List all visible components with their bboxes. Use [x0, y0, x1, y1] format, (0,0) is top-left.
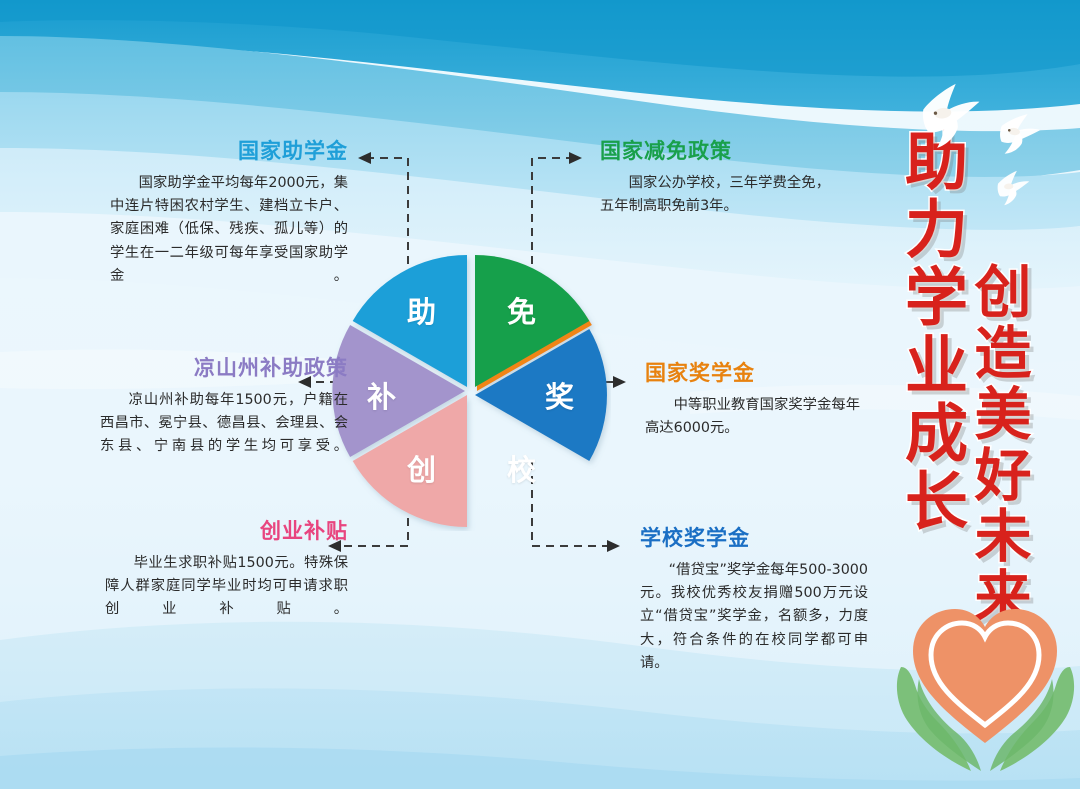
section-title: 学校奖学金	[640, 527, 868, 550]
poster-canvas: 助 免 奖 校 创 补 国家助学金 国家助学金平均每年2000元，集中连片特困农…	[0, 0, 1080, 789]
pie-svg	[331, 251, 611, 531]
section-body: 毕业生求职补贴1500元。特殊保障人群家庭同学毕业时均可申请求职创业补贴。	[105, 552, 348, 621]
policy-pie-chart: 助 免 奖 校 创 补	[331, 251, 611, 531]
section-title: 凉山州补助政策	[100, 357, 348, 380]
section-title: 创业补贴	[105, 520, 348, 543]
section-title: 国家减免政策	[600, 140, 830, 163]
dove-icon	[919, 81, 985, 149]
section-startup-subsidy[interactable]: 创业补贴 毕业生求职补贴1500元。特殊保障人群家庭同学毕业时均可申请求职创业补…	[105, 520, 348, 622]
dove-icon	[998, 111, 1042, 157]
section-body: 中等职业教育国家奖学金每年高达6000元。	[645, 394, 860, 440]
section-national-grant[interactable]: 国家助学金 国家助学金平均每年2000元，集中连片特困农村学生、建档立卡户、家庭…	[110, 140, 348, 288]
section-body: 国家助学金平均每年2000元，集中连片特困农村学生、建档立卡户、家庭困难（低保、…	[110, 172, 348, 288]
heart-in-hands-icon	[893, 575, 1078, 775]
section-school-scholarship[interactable]: 学校奖学金 “借贷宝”奖学金每年500-3000元。我校优秀校友捐赠500万元设…	[640, 527, 868, 675]
dove-icon-group	[880, 55, 1080, 230]
section-body: 凉山州补助每年1500元，户籍在西昌市、冕宁县、德昌县、会理县、会东县、宁南县的…	[100, 389, 348, 458]
section-national-scholarship[interactable]: 国家奖学金 中等职业教育国家奖学金每年高达6000元。	[645, 362, 860, 440]
dove-icon	[996, 170, 1030, 206]
section-title: 国家奖学金	[645, 362, 860, 385]
section-body: “借贷宝”奖学金每年500-3000元。我校优秀校友捐赠500万元设立“借贷宝”…	[640, 559, 868, 675]
section-liangshan-subsidy[interactable]: 凉山州补助政策 凉山州补助每年1500元，户籍在西昌市、冕宁县、德昌县、会理县、…	[100, 357, 348, 459]
section-title: 国家助学金	[110, 140, 348, 163]
section-national-exemption[interactable]: 国家减免政策 国家公办学校，三年学费全免，五年制高职免前3年。	[600, 140, 830, 218]
section-body: 国家公办学校，三年学费全免，五年制高职免前3年。	[600, 172, 830, 218]
slogan-line-2: 创造美好未来	[957, 262, 1039, 628]
